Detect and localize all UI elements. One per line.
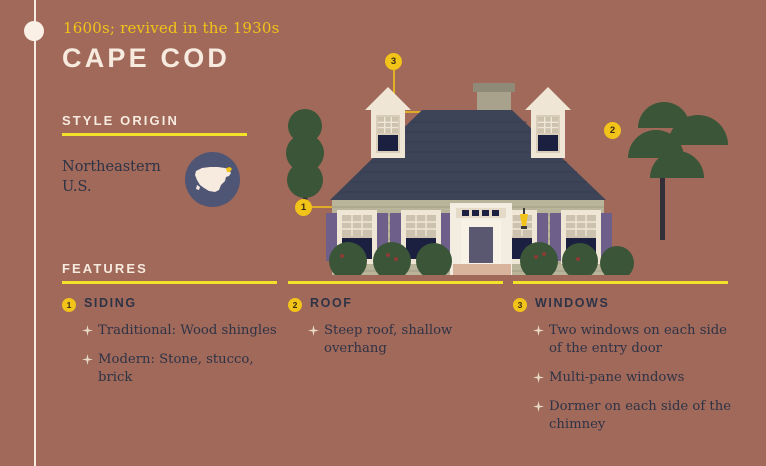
callout-1-badge: 1: [295, 199, 312, 216]
list-item: Traditional: Wood shingles: [82, 322, 277, 340]
sparkle-bullet-icon: [533, 372, 544, 383]
timeline-rail: [34, 0, 36, 466]
features-rule-3: [513, 281, 728, 284]
era-subtitle: 1600s; revived in the 1930s: [63, 19, 280, 37]
list-item-text: Modern: Stone, stucco, brick: [98, 352, 254, 385]
style-origin-value: Northeastern U.S.: [62, 157, 182, 197]
list-item: Modern: Stone, stucco, brick: [82, 351, 277, 387]
dormer-right: [525, 87, 571, 158]
list-item-text: Traditional: Wood shingles: [98, 323, 277, 338]
sparkle-bullet-icon: [533, 325, 544, 336]
right-tree: [628, 102, 728, 240]
callout-3-badge: 3: [385, 53, 402, 70]
style-origin-rule: [62, 133, 247, 136]
sparkle-bullet-icon: [82, 325, 93, 336]
callout-2-badge: 2: [604, 122, 621, 139]
feature-badge-3: 3: [513, 298, 527, 312]
feature-column-roof: 2 ROOF Steep roof, shallow overhang: [288, 296, 503, 316]
list-item: Two windows on each side of the entry do…: [533, 322, 738, 358]
timeline-dot: [24, 21, 44, 41]
list-item-text: Dormer on each side of the chimney: [549, 399, 731, 432]
list-item-text: Two windows on each side of the entry do…: [549, 323, 727, 356]
list-item: Steep roof, shallow overhang: [308, 322, 503, 358]
feature-badge-2: 2: [288, 298, 302, 312]
sparkle-bullet-icon: [308, 325, 319, 336]
list-item: Dormer on each side of the chimney: [533, 398, 738, 434]
list-item-text: Multi-pane windows: [549, 370, 684, 385]
sparkle-bullet-icon: [82, 354, 93, 365]
list-item: Multi-pane windows: [533, 369, 738, 387]
feature-column-siding: 1 SIDING Traditional: Wood shingles Mode…: [62, 296, 277, 316]
features-rule-1: [62, 281, 277, 284]
sparkle-bullet-icon: [533, 401, 544, 412]
infographic-page: 1600s; revived in the 1930s CAPE COD STY…: [0, 0, 766, 466]
feature-column-windows: 3 WINDOWS Two windows on each side of th…: [513, 296, 738, 316]
feature-badge-1: 1: [62, 298, 76, 312]
style-origin-heading: STYLE ORIGIN: [62, 113, 179, 128]
dormer-left: [365, 87, 411, 158]
page-title: CAPE COD: [62, 43, 230, 74]
feature-title-windows: WINDOWS: [535, 296, 609, 310]
feature-title-roof: ROOF: [310, 296, 353, 310]
feature-title-siding: SIDING: [84, 296, 137, 310]
cape-cod-house-illustration: [270, 50, 766, 275]
features-rule-2: [288, 281, 503, 284]
us-map-icon: [185, 152, 240, 207]
list-item-text: Steep roof, shallow overhang: [324, 323, 452, 356]
features-heading: FEATURES: [62, 261, 148, 276]
